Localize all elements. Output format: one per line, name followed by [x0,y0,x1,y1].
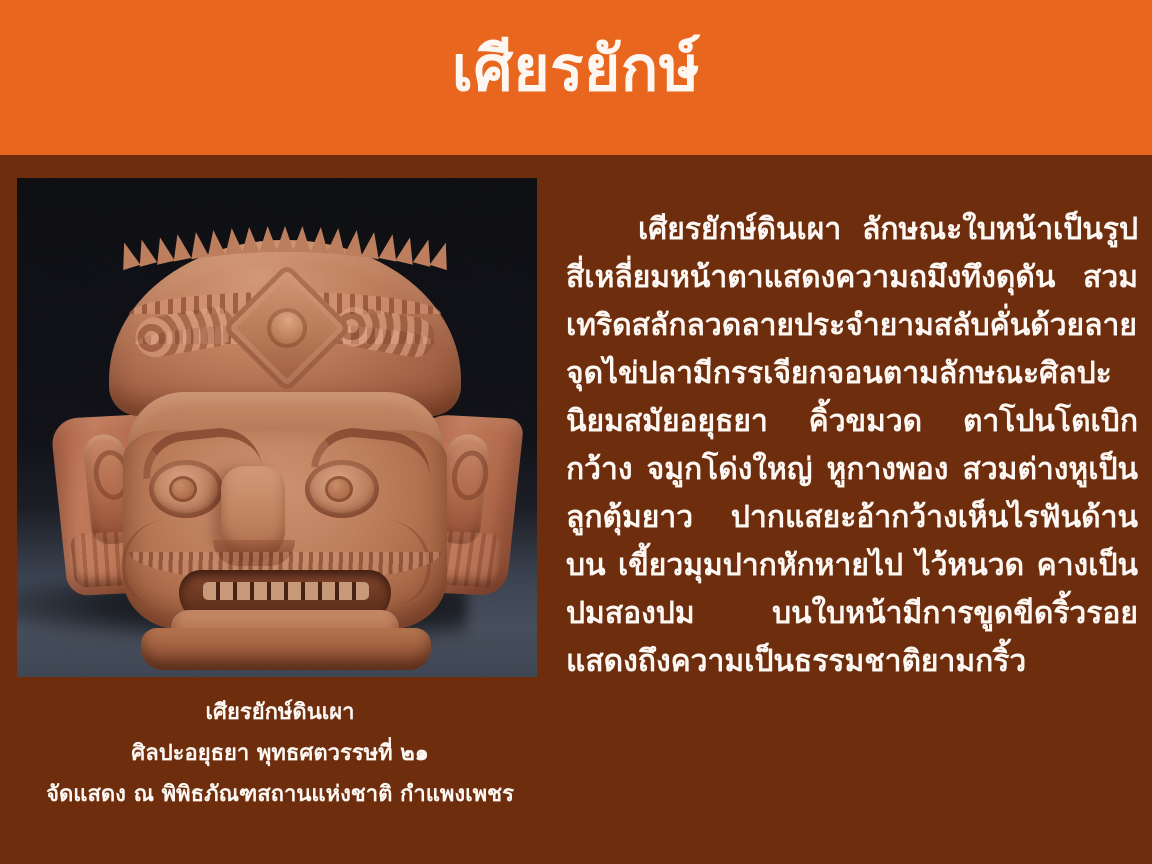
sculpture-figure [75,234,495,634]
photo-caption: เศียรยักษ์ดินเผา ศิลปะอยุธยา พุทธศตวรรษท… [10,692,550,815]
description-paragraph: เศียรยักษ์ดินเผา ลักษณะใบหน้าเป็นรูปสี่เ… [566,206,1138,686]
right-eye [305,460,379,518]
crown-diamond-motif [222,263,352,393]
caption-line-period: ศิลปะอยุธยา พุทธศตวรรษที่ ๒๑ [10,733,550,774]
crown-tooth [293,226,312,253]
description-column: เศียรยักษ์ดินเผา ลักษณะใบหน้าเป็นรูปสี่เ… [566,206,1138,686]
artifact-photo [17,178,537,677]
page-title: เศียรยักษ์ [0,26,1152,112]
crown-headdress [109,240,461,416]
crown-serrated-edge [119,226,451,256]
presentation-slide: เศียรยักษ์ [0,0,1152,864]
caption-line-location: จัดแสดง ณ พิพิธภัณฑสถานแห่งชาติ กำแพงเพช… [10,774,550,815]
caption-line-title: เศียรยักษ์ดินเผา [10,692,550,733]
title-banner: เศียรยักษ์ [0,0,1152,155]
chin-base [141,628,431,670]
crown-tooth [240,226,260,253]
left-eye [149,460,223,518]
crown-tooth [258,226,277,253]
crown-tooth [276,226,294,252]
teeth [203,582,369,600]
